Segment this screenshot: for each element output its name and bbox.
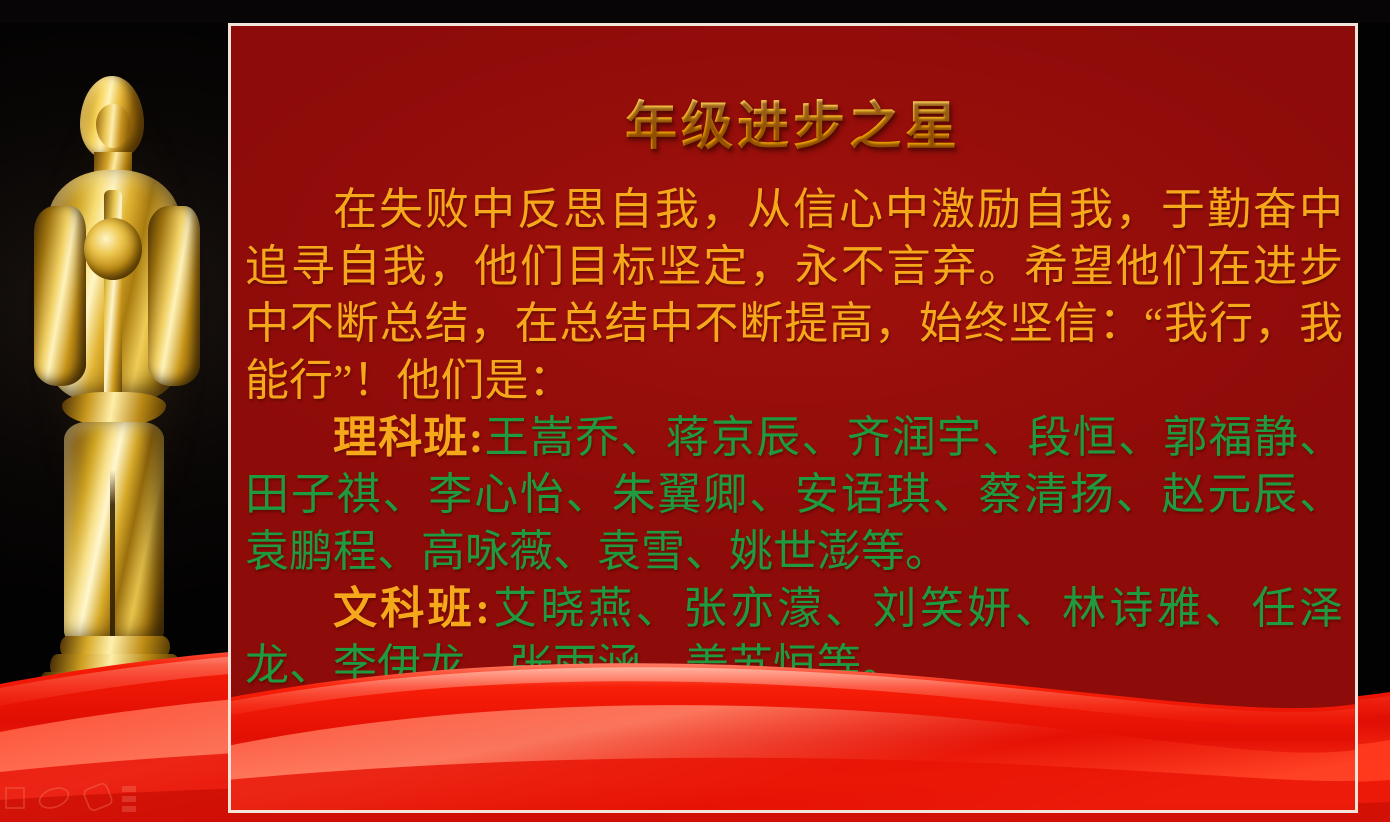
slide-body: 在失败中反思自我，从信心中激励自我，于勤奋中追寻自我，他们目标坚定，永不言弃。希…: [245, 181, 1343, 694]
arts-class-paragraph: 文科班:艾晓燕、张亦濛、刘笑妍、林诗雅、任泽龙、李伊龙、张雨涵、姜苏恒等。: [245, 580, 1343, 694]
intro-paragraph: 在失败中反思自我，从信心中激励自我，于勤奋中追寻自我，他们目标坚定，永不言弃。希…: [245, 181, 1343, 409]
content-panel: 年级进步之星 在失败中反思自我，从信心中激励自我，于勤奋中追寻自我，他们目标坚定…: [228, 23, 1358, 813]
science-class-paragraph: 理科班:王嵩乔、蒋京辰、齐润宇、段恒、郭福静、田子祺、李心怡、朱翼卿、安语琪、蔡…: [245, 409, 1343, 580]
top-black-band: [0, 0, 1390, 23]
science-class-label: 理科班:: [333, 413, 483, 462]
statue-left-arm: [34, 206, 86, 386]
oscar-statue: [8, 30, 228, 690]
statue-right-arm: [148, 206, 200, 386]
arts-class-label: 文科班:: [333, 584, 490, 633]
slide-title: 年级进步之星: [231, 84, 1355, 159]
statue-sword-hilt: [84, 218, 142, 280]
statue-leg-split: [110, 470, 115, 645]
presentation-slide: 年级进步之星 在失败中反思自我，从信心中激励自我，于勤奋中追寻自我，他们目标坚定…: [0, 0, 1390, 822]
